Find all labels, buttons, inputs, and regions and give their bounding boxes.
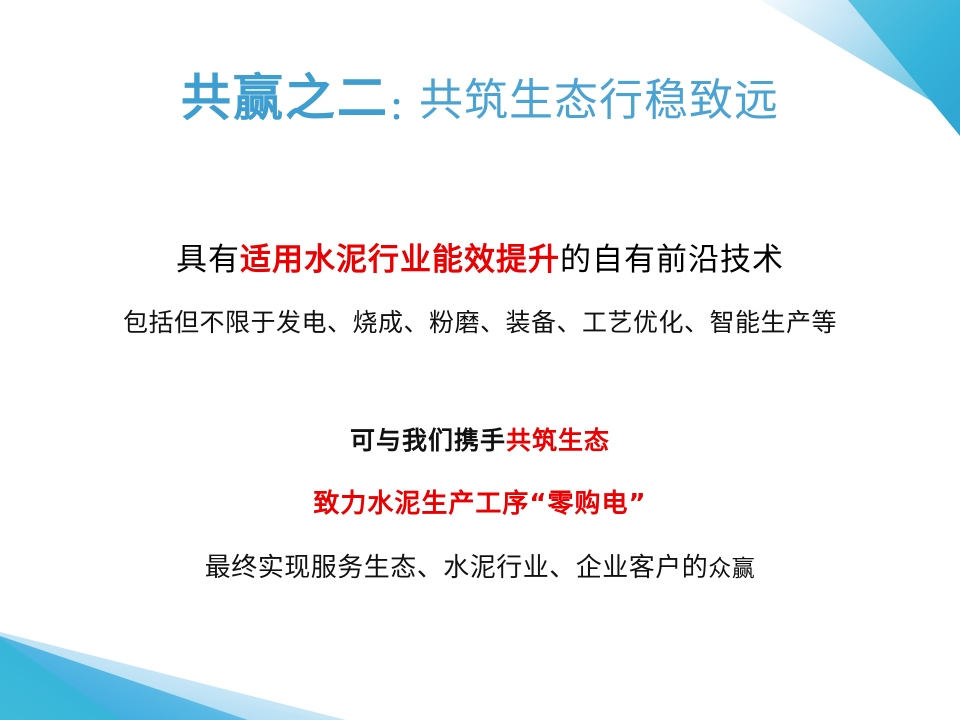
page-title: 共赢之二：共筑生态行稳致远 — [0, 58, 960, 130]
zero-power-line-text: 致力水泥生产工序“零购电” — [313, 489, 646, 519]
title-separator: ： — [389, 92, 419, 127]
partner-line-highlight: 共筑生态 — [506, 426, 610, 455]
tech-line-suffix: 的自有前沿技术 — [560, 242, 784, 278]
final-line-lead: 最终实现服务生态、水泥行业、企业客户的 — [205, 553, 709, 583]
tech-line-prefix: 具有 — [176, 242, 240, 278]
title-main-text: 共赢之二 — [181, 68, 389, 127]
scope-line: 包括但不限于发电、烧成、粉磨、装备、工艺优化、智能生产等 — [0, 303, 960, 339]
partner-line-prefix: 可与我们携手 — [350, 426, 506, 455]
partner-line: 可与我们携手共筑生态 — [0, 421, 960, 457]
title-sub-text: 共筑生态行稳致远 — [419, 75, 779, 126]
zero-power-line: 致力水泥生产工序“零购电” — [0, 483, 960, 520]
tech-line-highlight: 适用水泥行业能效提升 — [240, 242, 560, 278]
final-line-emphasis: 众赢 — [708, 556, 755, 582]
deco-bottom-mid-band — [0, 636, 248, 720]
scope-line-text: 包括但不限于发电、烧成、粉磨、装备、工艺优化、智能生产等 — [123, 308, 837, 337]
slide-canvas: 共赢之二：共筑生态行稳致远 具有适用水泥行业能效提升的自有前沿技术 包括但不限于… — [0, 0, 960, 720]
deco-bottom-pale-sheet — [0, 632, 346, 720]
deco-bottom-pale-band — [0, 660, 330, 720]
deco-top-pale-band — [735, 0, 960, 40]
tech-line: 具有适用水泥行业能效提升的自有前沿技术 — [0, 234, 960, 279]
final-line: 最终实现服务生态、水泥行业、企业客户的众赢 — [0, 547, 960, 584]
deco-bottom-teal-band — [0, 638, 122, 720]
